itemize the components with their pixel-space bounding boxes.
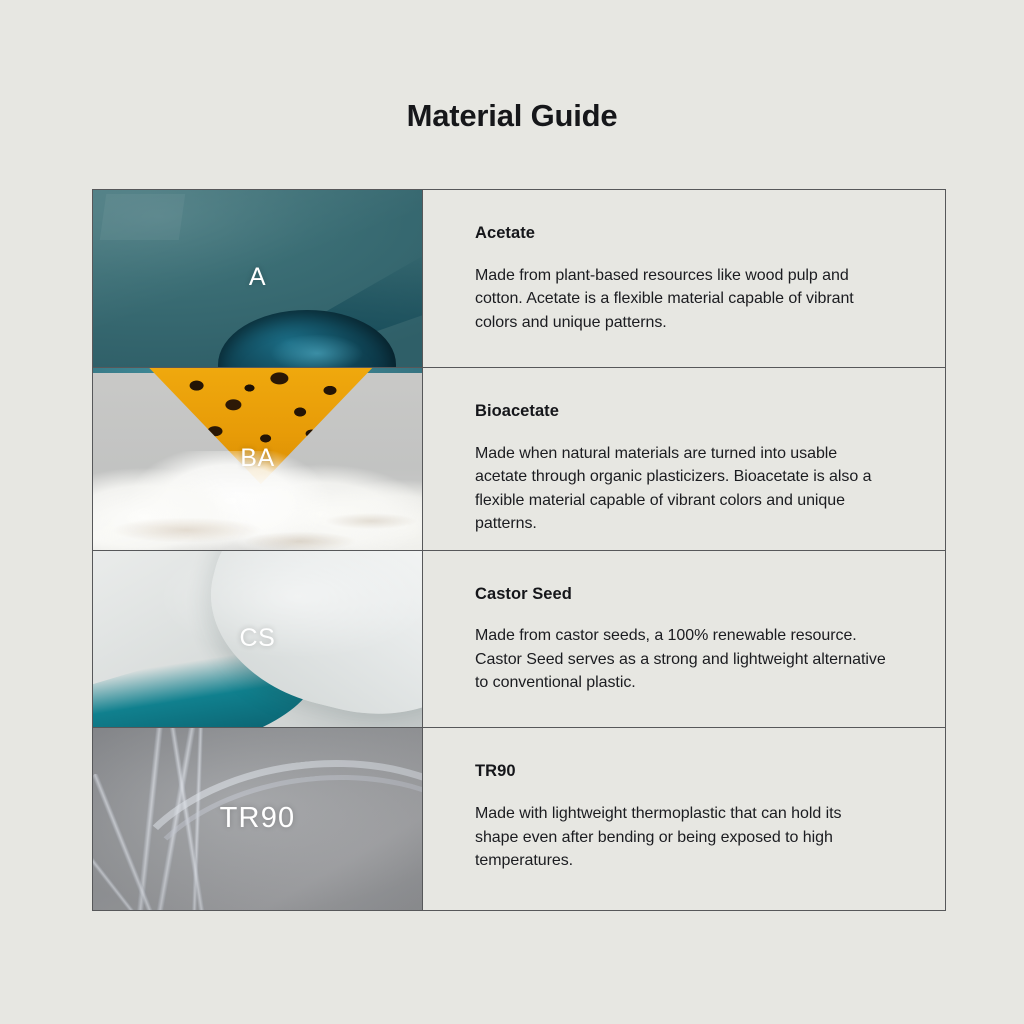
material-info-bioacetate: Bioacetate Made when natural materials a… [423, 368, 945, 550]
material-thumbnail-castor-seed: CS [93, 551, 423, 728]
material-description: Made when natural materials are turned i… [475, 442, 889, 536]
table-row: A Acetate Made from plant-based resource… [93, 190, 945, 368]
material-info-castor-seed: Castor Seed Made from castor seeds, a 10… [423, 551, 945, 728]
material-guide-page: Material Guide A Acetate Made from plant… [0, 0, 1024, 1024]
material-code-label: BA [93, 368, 422, 550]
material-description: Made with lightweight thermoplastic that… [475, 802, 889, 873]
table-row: BA Bioacetate Made when natural material… [93, 368, 945, 551]
material-name: Bioacetate [475, 402, 889, 422]
material-info-acetate: Acetate Made from plant-based resources … [423, 190, 945, 367]
material-code-label: CS [93, 551, 422, 728]
material-guide-table: A Acetate Made from plant-based resource… [92, 189, 946, 911]
page-title: Material Guide [0, 98, 1024, 134]
table-row: CS Castor Seed Made from castor seeds, a… [93, 551, 945, 729]
material-name: Acetate [475, 224, 889, 244]
material-name: TR90 [475, 762, 889, 782]
material-name: Castor Seed [475, 585, 889, 605]
material-code-label: TR90 [93, 728, 422, 910]
material-description: Made from castor seeds, a 100% renewable… [475, 624, 889, 695]
material-thumbnail-tr90: TR90 [93, 728, 423, 910]
table-row: TR90 TR90 Made with lightweight thermopl… [93, 728, 945, 910]
material-description: Made from plant-based resources like woo… [475, 264, 889, 335]
material-code-label: A [93, 190, 422, 367]
material-thumbnail-acetate: A [93, 190, 423, 367]
material-info-tr90: TR90 Made with lightweight thermoplastic… [423, 728, 945, 910]
material-thumbnail-bioacetate: BA [93, 368, 423, 550]
